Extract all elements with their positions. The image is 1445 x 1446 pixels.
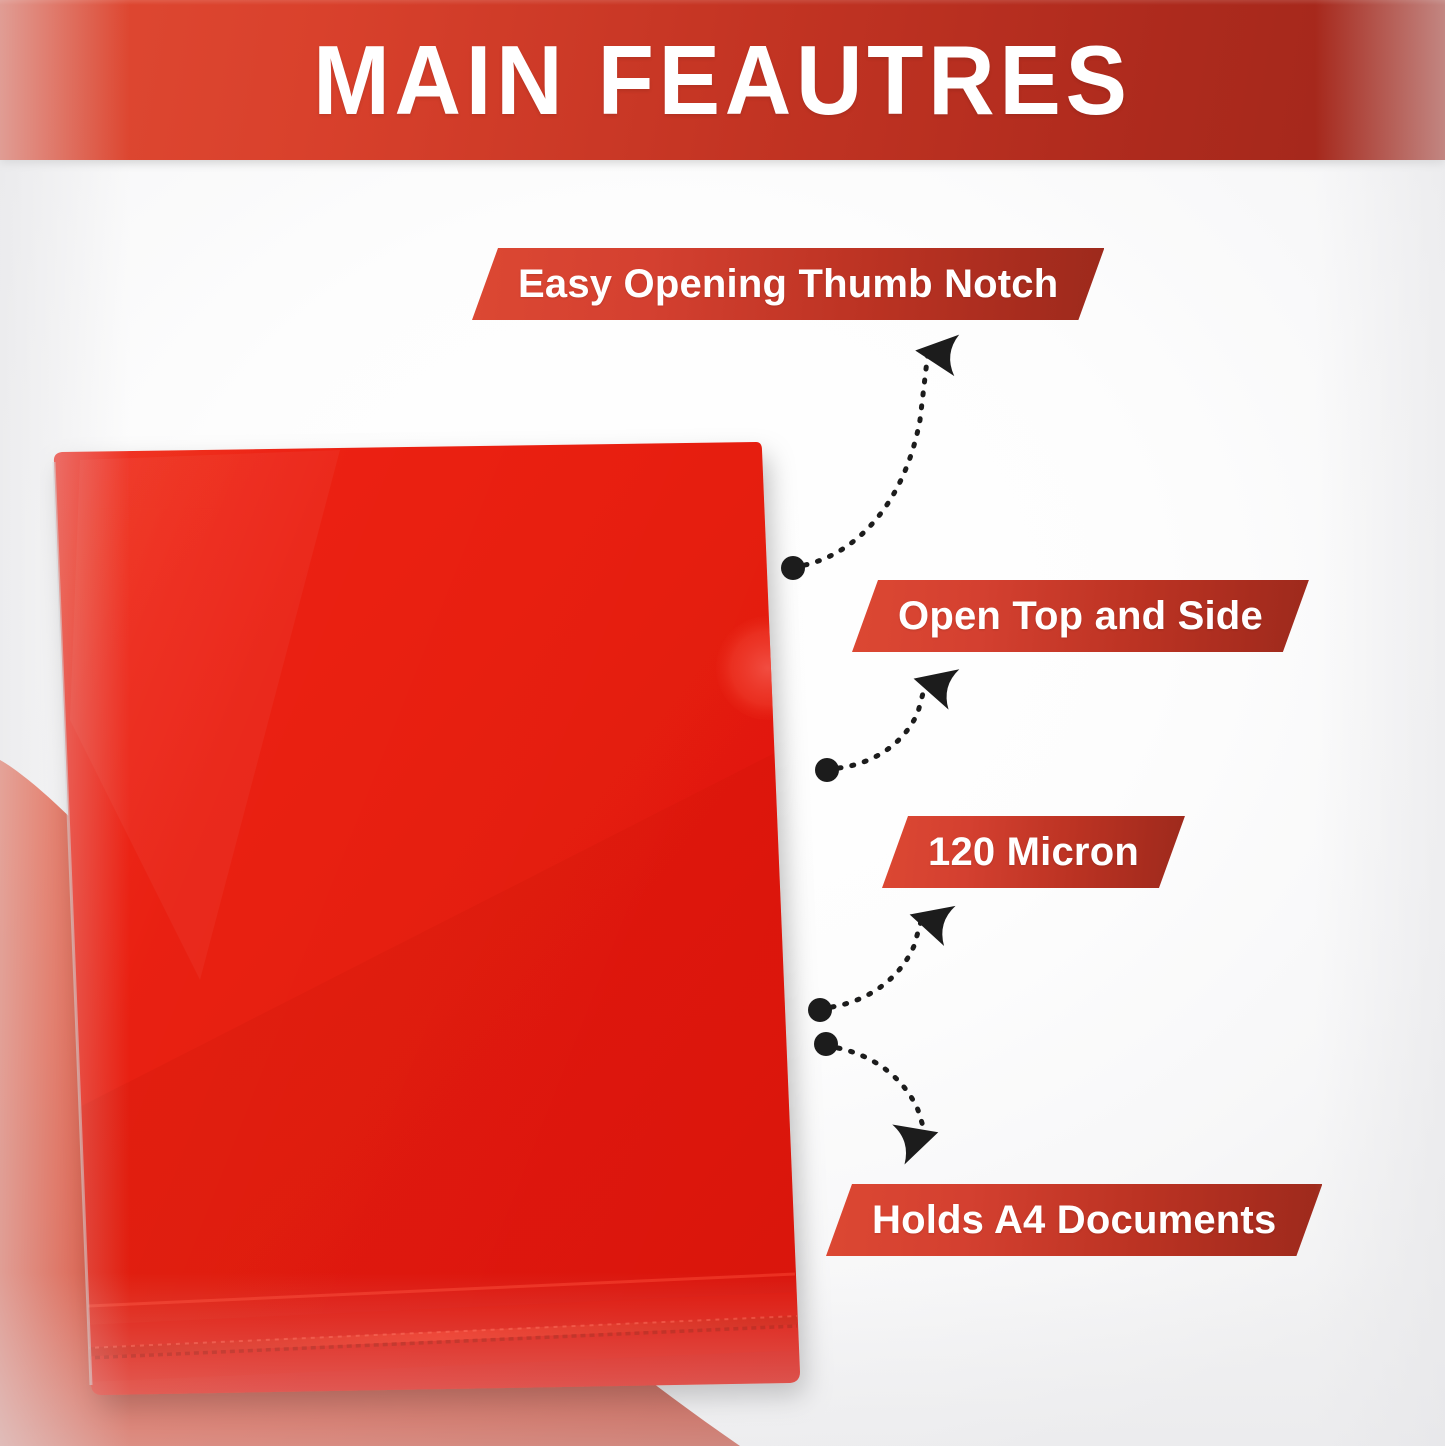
feature-label: Easy Opening Thumb Notch (518, 262, 1058, 307)
feature-label: Open Top and Side (898, 594, 1263, 639)
feature-banner-open-top-and-side: Open Top and Side (852, 580, 1309, 652)
feature-banner-holds-a4-documents: Holds A4 Documents (826, 1184, 1322, 1256)
feature-label: Holds A4 Documents (872, 1198, 1276, 1243)
header-band: MAIN FEAUTRES (0, 0, 1445, 160)
feature-banner-120-micron: 120 Micron (882, 816, 1185, 888)
feature-label: 120 Micron (928, 830, 1139, 875)
feature-banner-easy-opening-thumb-notch: Easy Opening Thumb Notch (472, 248, 1104, 320)
infographic-canvas: MAIN FEAUTRES Easy Opening Thumb Notch O… (0, 0, 1445, 1446)
page-title: MAIN FEAUTRES (313, 31, 1132, 129)
